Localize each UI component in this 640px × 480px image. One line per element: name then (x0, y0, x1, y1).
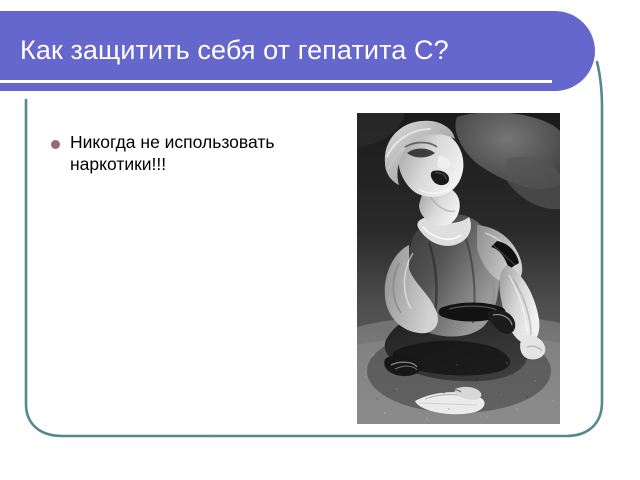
list-item: Никогда не использовать наркотики!!! (48, 132, 298, 175)
photo-drug-user-seated (357, 113, 560, 424)
list-item-label: Никогда не использовать наркотики!!! (70, 132, 274, 174)
title-banner: Как защитить себя от гепатита С? (0, 11, 595, 91)
page-title: Как защитить себя от гепатита С? (20, 22, 580, 78)
body-content-placeholder: Никогда не использовать наркотики!!! (48, 132, 298, 175)
presentation-slide: Как защитить себя от гепатита С? Никогда… (0, 0, 640, 480)
bullet-dot-icon (51, 140, 60, 149)
title-underline-rule (0, 80, 552, 83)
